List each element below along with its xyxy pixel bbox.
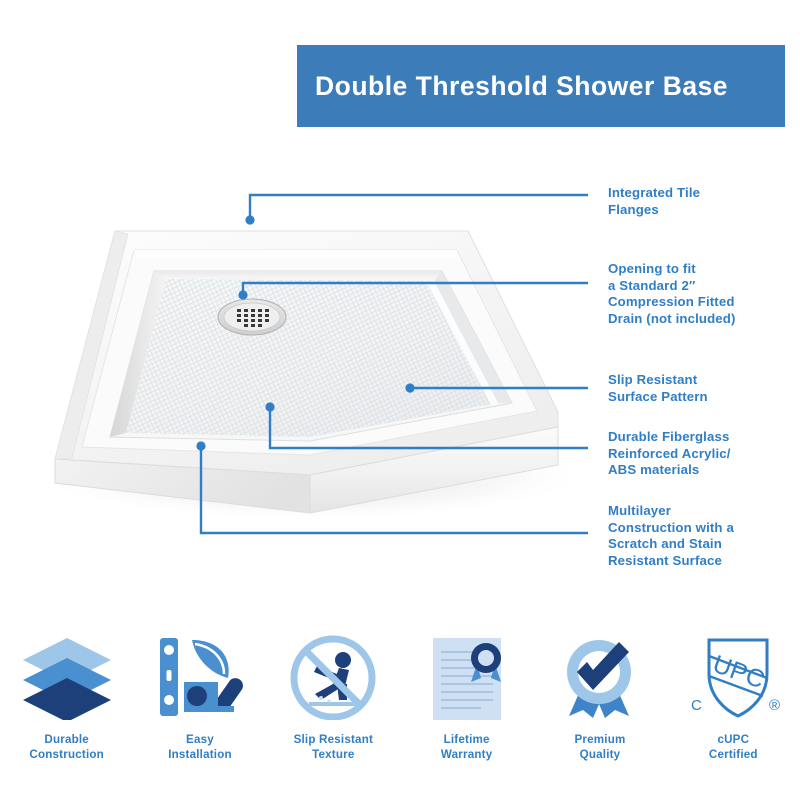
drain-grate: [218, 299, 286, 335]
trowel-level-tape-icon: [145, 633, 255, 721]
callout-line: Integrated Tile: [608, 185, 798, 202]
cupc-shield-icon: UPC C ®: [678, 633, 788, 721]
feature-durable-construction: Durable Construction: [0, 625, 133, 762]
feature-label-line: Premium: [574, 733, 625, 748]
callout-line: Multilayer: [608, 503, 798, 520]
feature-label: Premium Quality: [574, 733, 625, 762]
callout-line: Surface Pattern: [608, 389, 798, 406]
feature-label-line: Quality: [574, 748, 625, 763]
page-title: Double Threshold Shower Base: [297, 71, 728, 102]
shield-mark-right: ®: [769, 697, 780, 714]
callout-line: Resistant Surface: [608, 553, 798, 570]
shield-mark-left: C: [691, 697, 702, 714]
callout-line: Scratch and Stain: [608, 536, 798, 553]
feature-strip: Durable Construction: [0, 625, 800, 800]
feature-label: Easy Installation: [168, 733, 232, 762]
callout-line: a Standard 2″: [608, 278, 798, 295]
callout-line: Flanges: [608, 202, 798, 219]
feature-label-line: Installation: [168, 748, 232, 763]
shower-base-illustration: [10, 175, 590, 535]
feature-slip-resistant-texture: Slip Resistant Texture: [267, 625, 400, 762]
feature-label: Durable Construction: [29, 733, 104, 762]
layers-icon: [12, 633, 122, 721]
feature-label-line: Warranty: [441, 748, 492, 763]
feature-label: cUPC Certified: [709, 733, 758, 762]
feature-label-line: Certified: [709, 748, 758, 763]
feature-label-line: Construction: [29, 748, 104, 763]
certificate-rosette-icon: [412, 633, 522, 721]
feature-easy-installation: Easy Installation: [133, 625, 266, 762]
feature-label-line: Lifetime: [441, 733, 492, 748]
callout-line: Slip Resistant: [608, 372, 798, 389]
feature-lifetime-warranty: Lifetime Warranty: [400, 625, 533, 762]
feature-label: Slip Resistant Texture: [294, 733, 373, 762]
callout-line: Durable Fiberglass: [608, 429, 798, 446]
feature-label-line: cUPC: [709, 733, 758, 748]
callout-line: Construction with a: [608, 520, 798, 537]
feature-premium-quality: Premium Quality: [533, 625, 666, 762]
callout-line: Reinforced Acrylic/: [608, 446, 798, 463]
check-rosette-icon: [545, 633, 655, 721]
title-banner: Double Threshold Shower Base: [297, 45, 785, 127]
feature-label-line: Slip Resistant: [294, 733, 373, 748]
product-image: [10, 175, 590, 535]
callout-line: Compression Fitted: [608, 294, 798, 311]
feature-label: Lifetime Warranty: [441, 733, 492, 762]
callout-line: ABS materials: [608, 462, 798, 479]
callout-line: Drain (not included): [608, 311, 798, 328]
callout-multilayer-construction: Multilayer Construction with a Scratch a…: [608, 503, 798, 569]
feature-cupc-certified: UPC C ® cUPC Certified: [667, 625, 800, 762]
callout-line: Opening to fit: [608, 261, 798, 278]
feature-label-line: Texture: [294, 748, 373, 763]
feature-label-line: Durable: [29, 733, 104, 748]
feature-label-line: Easy: [168, 733, 232, 748]
callout-durable-fiberglass: Durable Fiberglass Reinforced Acrylic/ A…: [608, 429, 798, 479]
infographic-canvas: Double Threshold Shower Base: [0, 0, 800, 800]
deck-top-highlight: [134, 250, 457, 258]
callout-drain-opening: Opening to fit a Standard 2″ Compression…: [608, 261, 798, 327]
callout-integrated-tile-flanges: Integrated Tile Flanges: [608, 185, 798, 218]
no-slip-icon: [278, 633, 388, 721]
callout-slip-resistant-surface: Slip Resistant Surface Pattern: [608, 372, 798, 405]
